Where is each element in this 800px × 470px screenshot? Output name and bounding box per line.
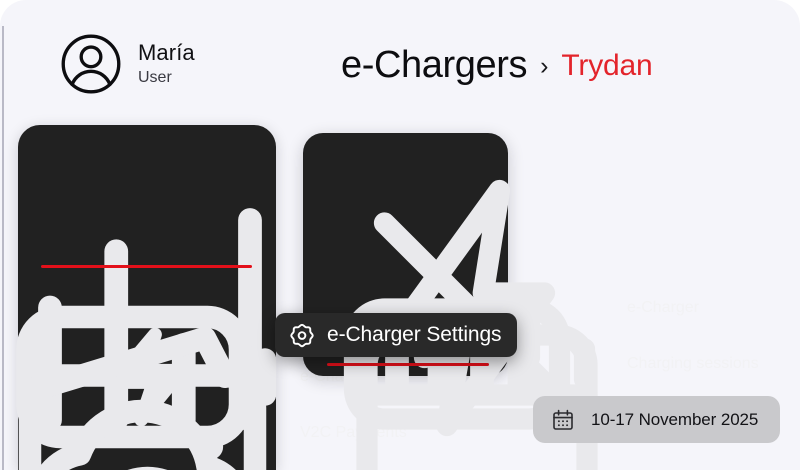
breadcrumb: e-Chargers › Trydan (341, 44, 652, 87)
cloud-plus-icon (0, 338, 300, 470)
date-range-picker[interactable]: 10-17 November 2025 (533, 396, 780, 443)
date-range-value: 10-17 November 2025 (591, 410, 758, 430)
sidebar-active-underline (41, 265, 252, 268)
submenu-active-underline (327, 363, 489, 366)
breadcrumb-root[interactable]: e-Chargers (341, 44, 527, 87)
gear-icon (289, 322, 315, 348)
calendar-icon (551, 408, 575, 432)
submenu-item-label: e-Charger Settings (327, 323, 501, 347)
user-name: María (138, 39, 195, 67)
app-window: María User e-Chargers › Trydan Control p… (0, 0, 800, 470)
chevron-right-icon: › (540, 52, 548, 81)
user-profile[interactable]: María User (60, 33, 195, 95)
submenu-item-e-charger-settings[interactable]: e-Charger Settings (275, 313, 517, 357)
breadcrumb-current[interactable]: Trydan (561, 49, 652, 83)
user-avatar-icon (60, 33, 122, 95)
user-role: User (138, 67, 195, 89)
user-meta: María User (138, 39, 195, 88)
